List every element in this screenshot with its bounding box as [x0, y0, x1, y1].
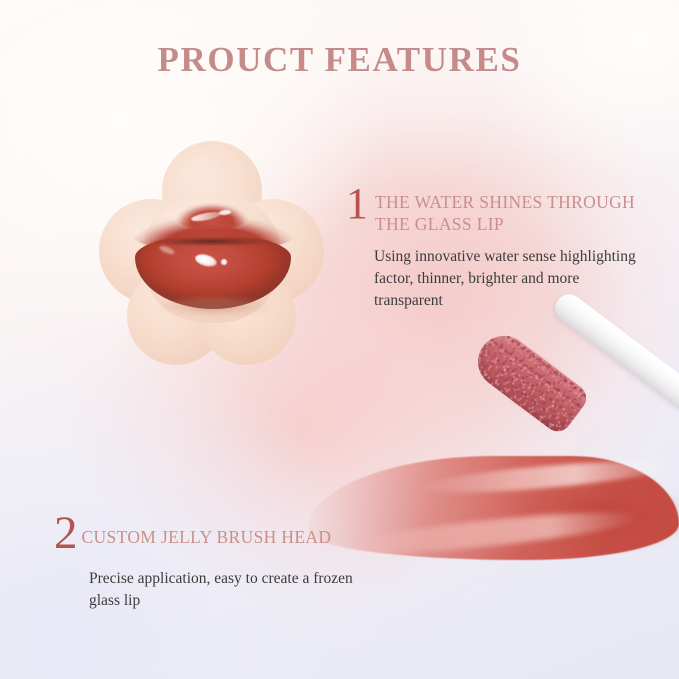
wand-neck [508, 359, 583, 424]
feature-2-body: Precise application, easy to create a fr… [89, 568, 354, 612]
feature-2-title: CUSTOM JELLY BRUSH HEAD [82, 527, 332, 552]
lip-parting-line [147, 237, 277, 246]
wand-flocked-tip [468, 325, 592, 436]
feature-1-heading: 1 THE WATER SHINES THROUGH THE GLASS LIP [346, 186, 646, 235]
feature-2-number: 2 [54, 515, 78, 552]
upper-lip-cupids-bow [175, 195, 249, 229]
feature-block-1: 1 THE WATER SHINES THROUGH THE GLASS LIP… [346, 186, 646, 312]
wand-tip-texture [468, 325, 592, 436]
wand-tip-edge-blur [464, 321, 596, 441]
lip-photo-flower-frame [99, 141, 324, 369]
gloss-swatch-pool [300, 452, 679, 570]
swatch-edge-sheen [339, 504, 640, 561]
feature-block-2: 2 CUSTOM JELLY BRUSH HEAD Precise applic… [54, 515, 354, 612]
feature-1-title: THE WATER SHINES THROUGH THE GLASS LIP [375, 186, 646, 235]
swatch-deep-shade [510, 482, 679, 552]
lips-image [129, 193, 297, 323]
swatch-highlight [420, 455, 671, 499]
feature-1-number: 1 [346, 186, 368, 222]
product-features-poster: PROUCT FEATURES [0, 0, 679, 679]
page-title: PROUCT FEATURES [0, 40, 679, 80]
applicator-wand [452, 292, 679, 524]
feature-2-heading: 2 CUSTOM JELLY BRUSH HEAD [54, 515, 354, 552]
swatch-body [308, 456, 679, 560]
lower-lip-shadow [155, 297, 273, 321]
feature-1-body: Using innovative water sense highlightin… [374, 246, 646, 312]
